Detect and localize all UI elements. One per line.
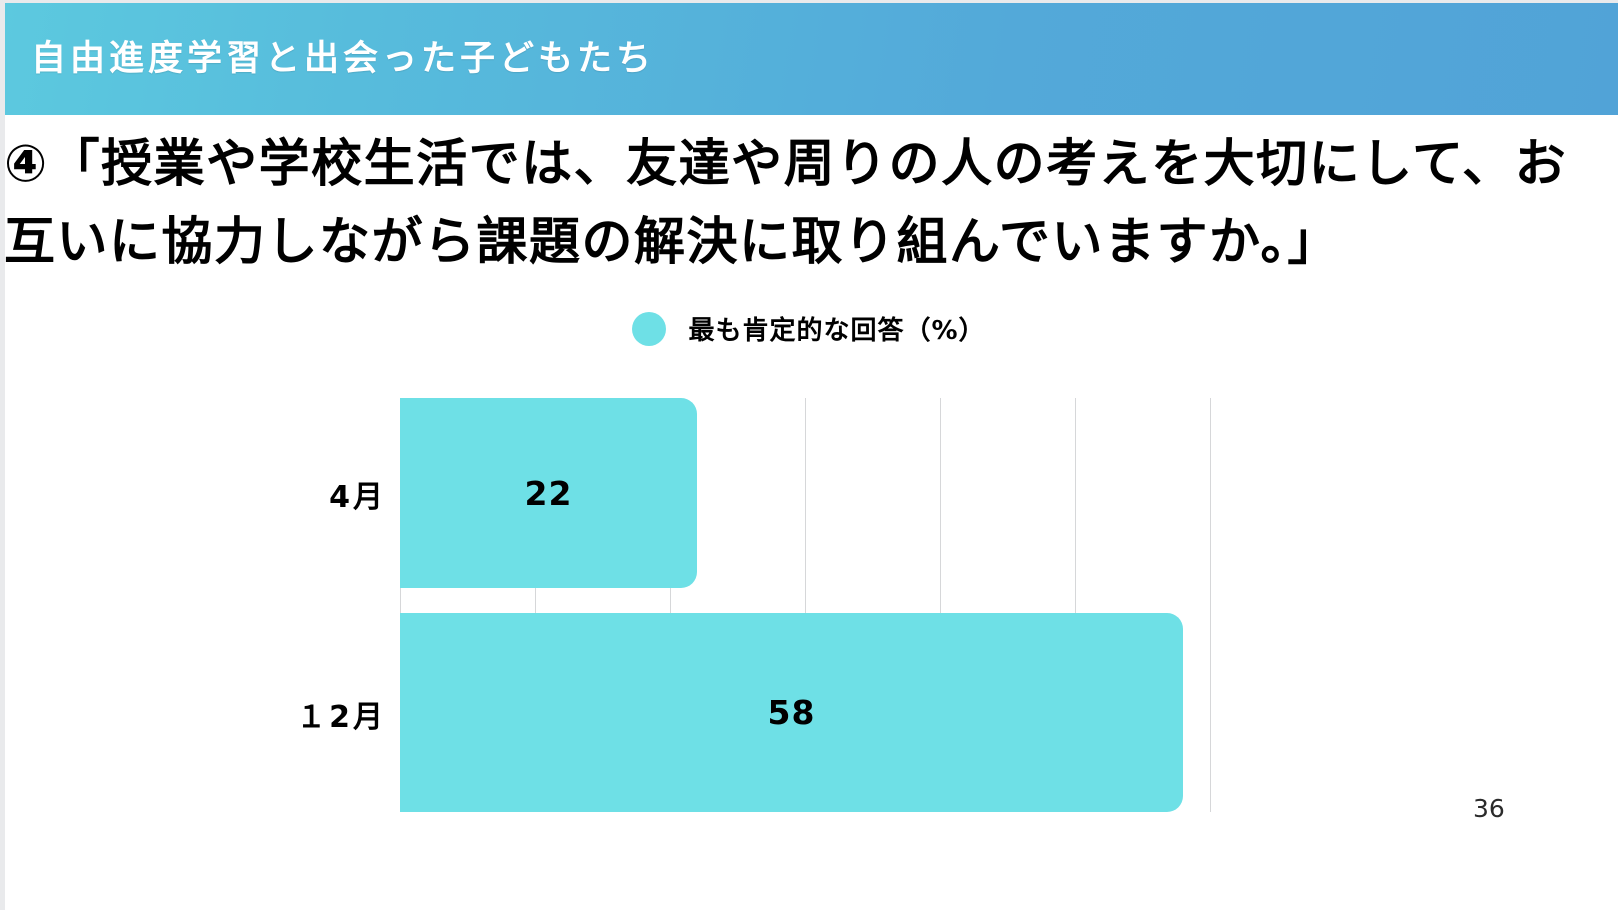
page-number: 36 (1473, 794, 1505, 823)
gridline (1210, 398, 1211, 812)
bar-value-label-1: 58 (768, 693, 816, 732)
chart-plot-area: 2258 (400, 398, 1210, 812)
y-axis-label-1: １2月 (296, 692, 386, 736)
slide: 自由進度学習と出会った子どもたち ④「授業や学校生活では、友達や周りの人の考えを… (0, 0, 1618, 910)
chart-legend: 最も肯定的な回答（%） (0, 310, 1618, 347)
bar-1: 58 (400, 613, 1183, 812)
slide-header-band: 自由進度学習と出会った子どもたち (5, 3, 1618, 115)
slide-header-title: 自由進度学習と出会った子どもたち (31, 42, 655, 77)
question-text: ④「授業や学校生活では、友達や周りの人の考えを大切にして、お 互いに協力しながら… (4, 126, 1616, 282)
bar-0: 22 (400, 398, 697, 588)
bar-value-label-0: 22 (525, 474, 573, 513)
y-axis-label-0: 4月 (329, 472, 386, 516)
question-line-1: ④「授業や学校生活では、友達や周りの人の考えを大切にして、お (4, 126, 1616, 204)
circle-marker-icon (632, 312, 666, 346)
question-line-2: 互いに協力しながら課題の解決に取り組んでいますか。」 (4, 204, 1616, 282)
bar-chart: 最も肯定的な回答（%） 2258 4月 １2月 0102030405060 (0, 296, 1618, 896)
chart-legend-label: 最も肯定的な回答（%） (688, 310, 985, 347)
